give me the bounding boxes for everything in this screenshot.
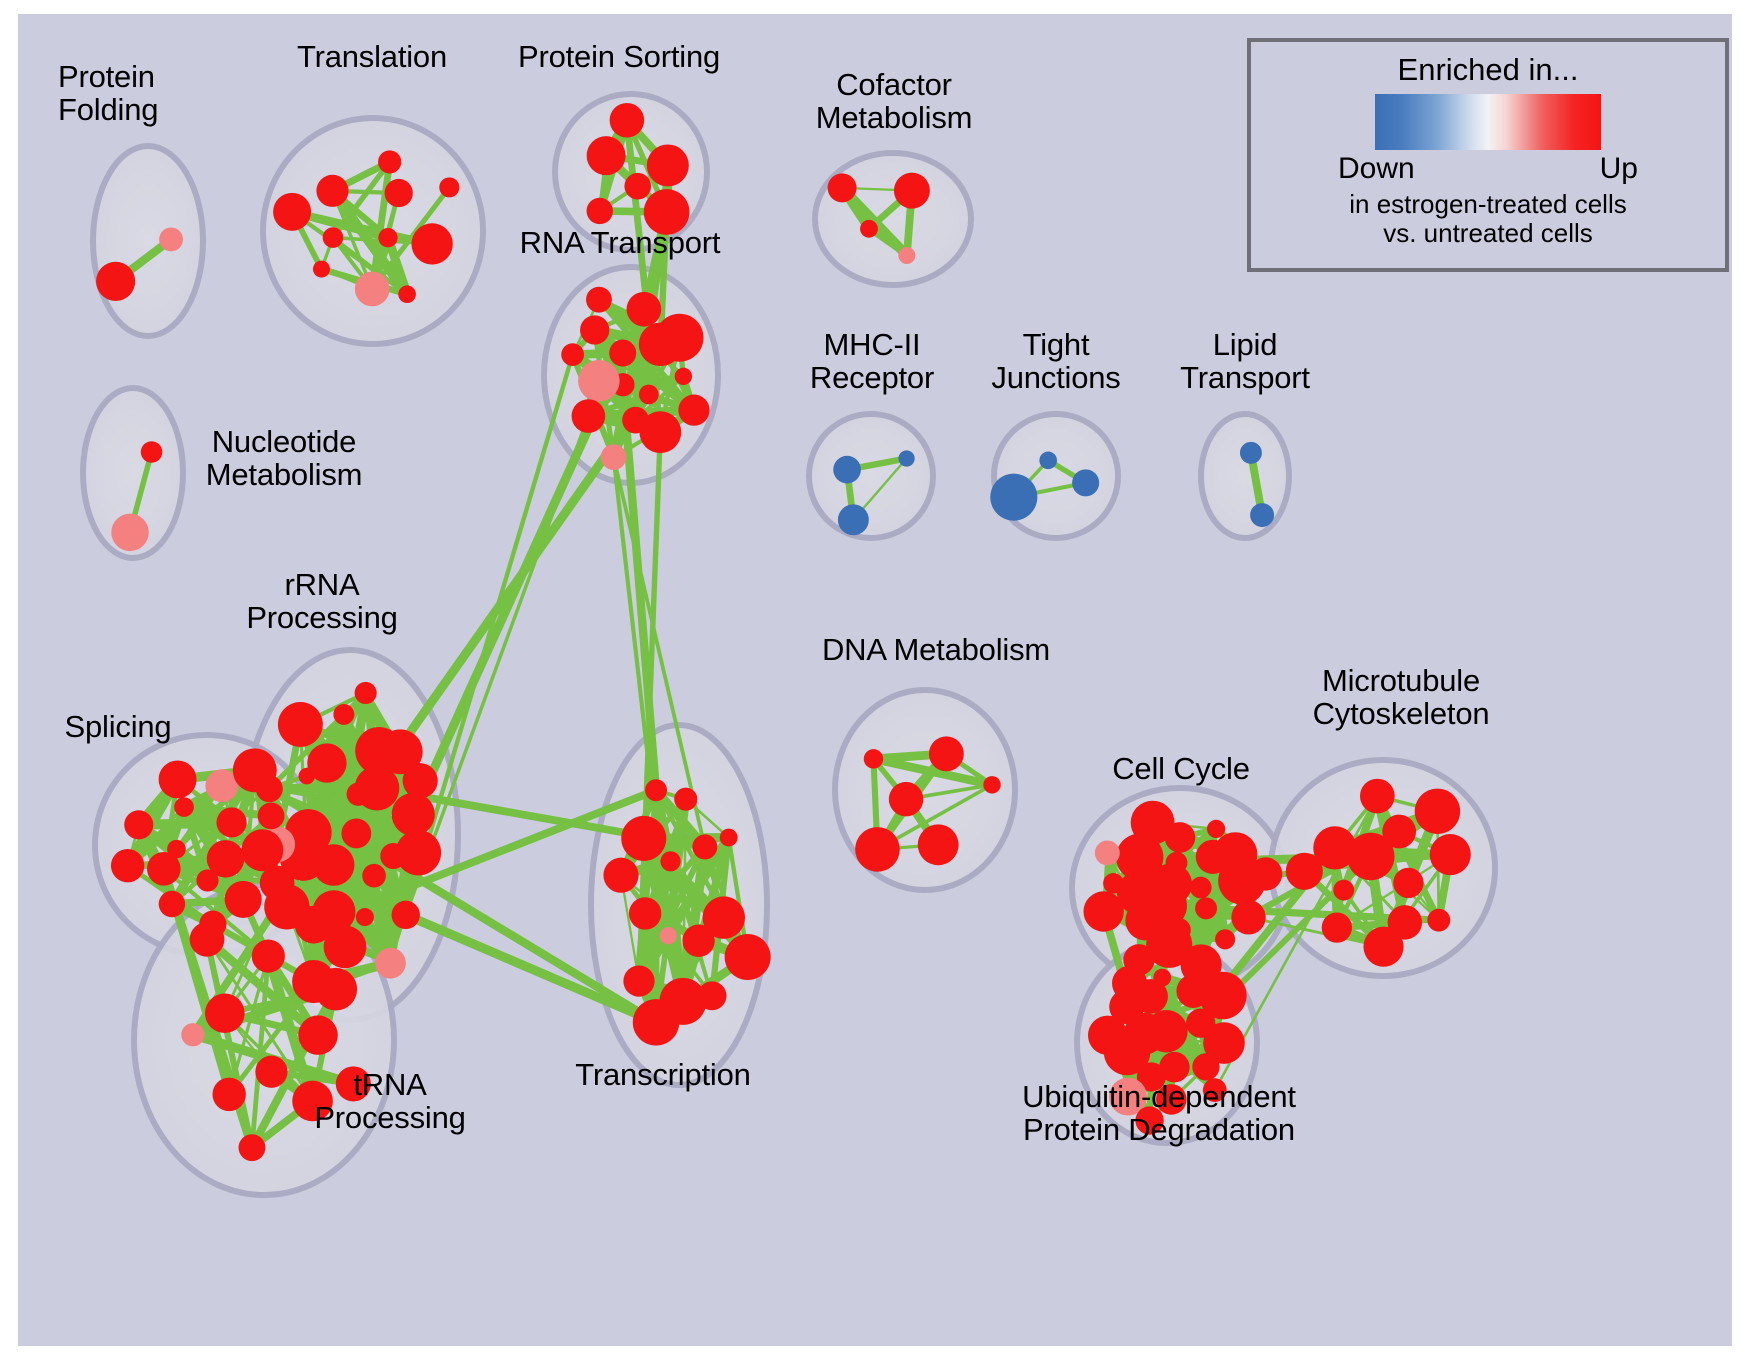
network-node[interactable] <box>725 934 771 980</box>
network-node[interactable] <box>375 948 406 979</box>
network-node[interactable] <box>1333 880 1354 901</box>
network-node[interactable] <box>621 816 666 861</box>
network-node[interactable] <box>1095 840 1120 865</box>
network-node[interactable] <box>983 776 1000 793</box>
network-node[interactable] <box>313 261 330 278</box>
network-node[interactable] <box>159 227 183 251</box>
network-node[interactable] <box>273 193 311 231</box>
network-node[interactable] <box>196 869 218 891</box>
network-node[interactable] <box>1322 912 1352 942</box>
network-node[interactable] <box>1083 891 1123 931</box>
network-node[interactable] <box>411 223 452 264</box>
network-node[interactable] <box>355 272 390 307</box>
network-node[interactable] <box>111 514 148 551</box>
cluster-label-cofactor-metabolism: Cofactor Metabolism <box>790 68 998 135</box>
network-node[interactable] <box>1088 1016 1127 1055</box>
network-node[interactable] <box>855 827 900 872</box>
network-node[interactable] <box>378 150 401 173</box>
network-node[interactable] <box>1195 897 1217 919</box>
network-node[interactable] <box>159 891 185 917</box>
cluster-label-splicing: Splicing <box>48 710 188 743</box>
network-node[interactable] <box>898 247 915 264</box>
legend-caption-line1: in estrogen-treated cells <box>1349 190 1626 219</box>
network-node[interactable] <box>833 456 861 484</box>
network-node[interactable] <box>838 504 869 535</box>
network-node[interactable] <box>1131 801 1175 845</box>
network-node[interactable] <box>205 993 245 1033</box>
cluster-halo <box>809 414 933 538</box>
network-node[interactable] <box>1112 966 1147 1001</box>
cluster-label-protein-folding: Protein Folding <box>58 60 208 127</box>
legend-color-scale <box>1375 94 1601 150</box>
network-node[interactable] <box>633 999 679 1045</box>
network-node[interactable] <box>587 136 626 175</box>
network-node[interactable] <box>561 343 584 366</box>
network-node[interactable] <box>225 881 262 918</box>
network-node[interactable] <box>385 179 413 207</box>
network-node[interactable] <box>1203 1022 1245 1064</box>
network-node[interactable] <box>1415 789 1460 834</box>
network-node[interactable] <box>316 175 348 207</box>
network-node[interactable] <box>656 314 704 362</box>
network-node[interactable] <box>1190 877 1212 899</box>
network-node[interactable] <box>1103 873 1124 894</box>
legend-low-label: Down <box>1338 152 1415 186</box>
network-node[interactable] <box>439 177 459 197</box>
network-node[interactable] <box>660 851 680 871</box>
network-node[interactable] <box>233 748 277 792</box>
network-node[interactable] <box>1286 853 1323 890</box>
network-node[interactable] <box>674 788 697 811</box>
network-node[interactable] <box>403 763 438 798</box>
cluster-halo <box>1201 414 1289 538</box>
cluster-halo <box>93 146 203 336</box>
network-node[interactable] <box>639 411 681 453</box>
cluster-label-transcription: Transcription <box>563 1058 763 1091</box>
network-node[interactable] <box>609 340 636 367</box>
network-node[interactable] <box>324 925 367 968</box>
network-node[interactable] <box>124 810 153 839</box>
network-node[interactable] <box>323 227 344 248</box>
network-node[interactable] <box>1393 868 1423 898</box>
network-node[interactable] <box>578 360 620 402</box>
network-node[interactable] <box>258 802 285 829</box>
network-node[interactable] <box>141 441 162 462</box>
network-node[interactable] <box>378 228 397 247</box>
network-node[interactable] <box>703 896 745 938</box>
network-node[interactable] <box>889 782 923 816</box>
cluster-label-dna-metabolism: DNA Metabolism <box>812 633 1060 666</box>
network-node[interactable] <box>241 829 283 871</box>
cluster-label-translation: Translation <box>282 40 462 73</box>
network-node[interactable] <box>660 927 677 944</box>
network-node[interactable] <box>1249 857 1282 890</box>
network-node[interactable] <box>645 779 667 801</box>
legend-caption-line2: vs. untreated cells <box>1383 219 1593 248</box>
network-node[interactable] <box>1153 969 1171 987</box>
network-node[interactable] <box>929 736 964 771</box>
network-node[interactable] <box>174 797 194 817</box>
network-node[interactable] <box>1039 452 1057 470</box>
cluster-label-rrna-processing: rRNA Processing <box>222 568 422 635</box>
legend-high-label: Up <box>1600 152 1638 186</box>
cluster-label-cell-cycle: Cell Cycle <box>1091 752 1271 785</box>
cluster-label-protein-sorting: Protein Sorting <box>508 40 730 73</box>
network-node[interactable] <box>678 395 709 426</box>
network-node[interactable] <box>1430 834 1471 875</box>
network-node[interactable] <box>610 103 645 138</box>
network-node[interactable] <box>692 834 717 859</box>
network-node[interactable] <box>1072 469 1099 496</box>
network-node[interactable] <box>720 829 738 847</box>
network-node[interactable] <box>355 682 377 704</box>
network-node[interactable] <box>864 749 883 768</box>
network-node[interactable] <box>1199 972 1246 1019</box>
network-node[interactable] <box>601 444 627 470</box>
network-node[interactable] <box>333 704 354 725</box>
network-node[interactable] <box>341 819 371 849</box>
network-node[interactable] <box>278 702 323 747</box>
legend-title: Enriched in... <box>1398 52 1579 88</box>
network-node[interactable] <box>860 220 878 238</box>
legend-endpoints: Down Up <box>1338 152 1638 186</box>
network-node[interactable] <box>580 315 609 344</box>
network-node[interactable] <box>627 292 662 327</box>
network-node[interactable] <box>675 368 692 385</box>
network-node[interactable] <box>572 399 606 433</box>
network-node[interactable] <box>396 830 441 875</box>
network-node[interactable] <box>252 940 285 973</box>
network-node[interactable] <box>990 474 1037 521</box>
network-node[interactable] <box>1250 503 1274 527</box>
cluster-label-microtubule-cytoskeleton: Microtubule Cytoskeleton <box>1281 664 1521 731</box>
network-node[interactable] <box>212 1078 245 1111</box>
legend: Enriched in... Down Up in estrogen-treat… <box>1247 38 1729 272</box>
network-node[interactable] <box>698 981 727 1010</box>
network-node[interactable] <box>391 901 419 929</box>
network-node[interactable] <box>111 849 144 882</box>
network-node[interactable] <box>918 824 959 865</box>
network-node[interactable] <box>362 864 386 888</box>
cluster-label-mhc-ii-receptor: MHC-II Receptor <box>782 328 962 395</box>
network-node[interactable] <box>392 793 435 836</box>
network-node[interactable] <box>629 897 661 929</box>
network-node[interactable] <box>586 287 612 313</box>
cluster-label-tight-junctions: Tight Junctions <box>963 328 1149 395</box>
cluster-label-nucleotide-metabolism: Nucleotide Metabolism <box>180 425 388 492</box>
network-node[interactable] <box>298 1015 338 1055</box>
network-node[interactable] <box>159 760 197 798</box>
network-node[interactable] <box>1231 900 1265 934</box>
network-node[interactable] <box>1240 442 1262 464</box>
network-node[interactable] <box>181 1023 204 1046</box>
network-node[interactable] <box>1427 909 1450 932</box>
network-node[interactable] <box>639 385 659 405</box>
cluster-label-lipid-transport: Lipid Transport <box>1152 328 1338 395</box>
network-node[interactable] <box>398 285 416 303</box>
network-node[interactable] <box>356 908 374 926</box>
network-node[interactable] <box>239 1134 266 1161</box>
network-node[interactable] <box>587 198 613 224</box>
network-node[interactable] <box>216 807 246 837</box>
network-node[interactable] <box>1360 779 1395 814</box>
figure-canvas: Protein Folding Translation Protein Sort… <box>0 0 1750 1360</box>
network-node[interactable] <box>1215 929 1235 949</box>
cluster-label-rna-transport: RNA Transport <box>512 226 728 259</box>
network-node[interactable] <box>828 173 857 202</box>
network-node[interactable] <box>1363 927 1403 967</box>
network-node[interactable] <box>898 450 914 466</box>
network-node[interactable] <box>894 173 930 209</box>
network-node[interactable] <box>190 922 225 957</box>
cluster-label-ubiquitin-protein-degradation: Ubiquitin-dependent Protein Degradation <box>978 1080 1340 1147</box>
network-node[interactable] <box>1207 820 1225 838</box>
network-node[interactable] <box>624 173 651 200</box>
network-node[interactable] <box>96 262 135 301</box>
network-node[interactable] <box>298 768 314 784</box>
cluster-label-trna-processing: tRNA Processing <box>290 1068 490 1135</box>
network-node[interactable] <box>315 968 358 1011</box>
network-node[interactable] <box>603 858 638 893</box>
network-node[interactable] <box>260 866 295 901</box>
network-node[interactable] <box>647 144 689 186</box>
network-node[interactable] <box>147 852 181 886</box>
cluster-halo <box>815 153 971 285</box>
network-node[interactable] <box>255 1056 287 1088</box>
network-node[interactable] <box>623 965 654 996</box>
network-node[interactable] <box>1382 815 1416 849</box>
network-node[interactable] <box>1166 852 1188 874</box>
